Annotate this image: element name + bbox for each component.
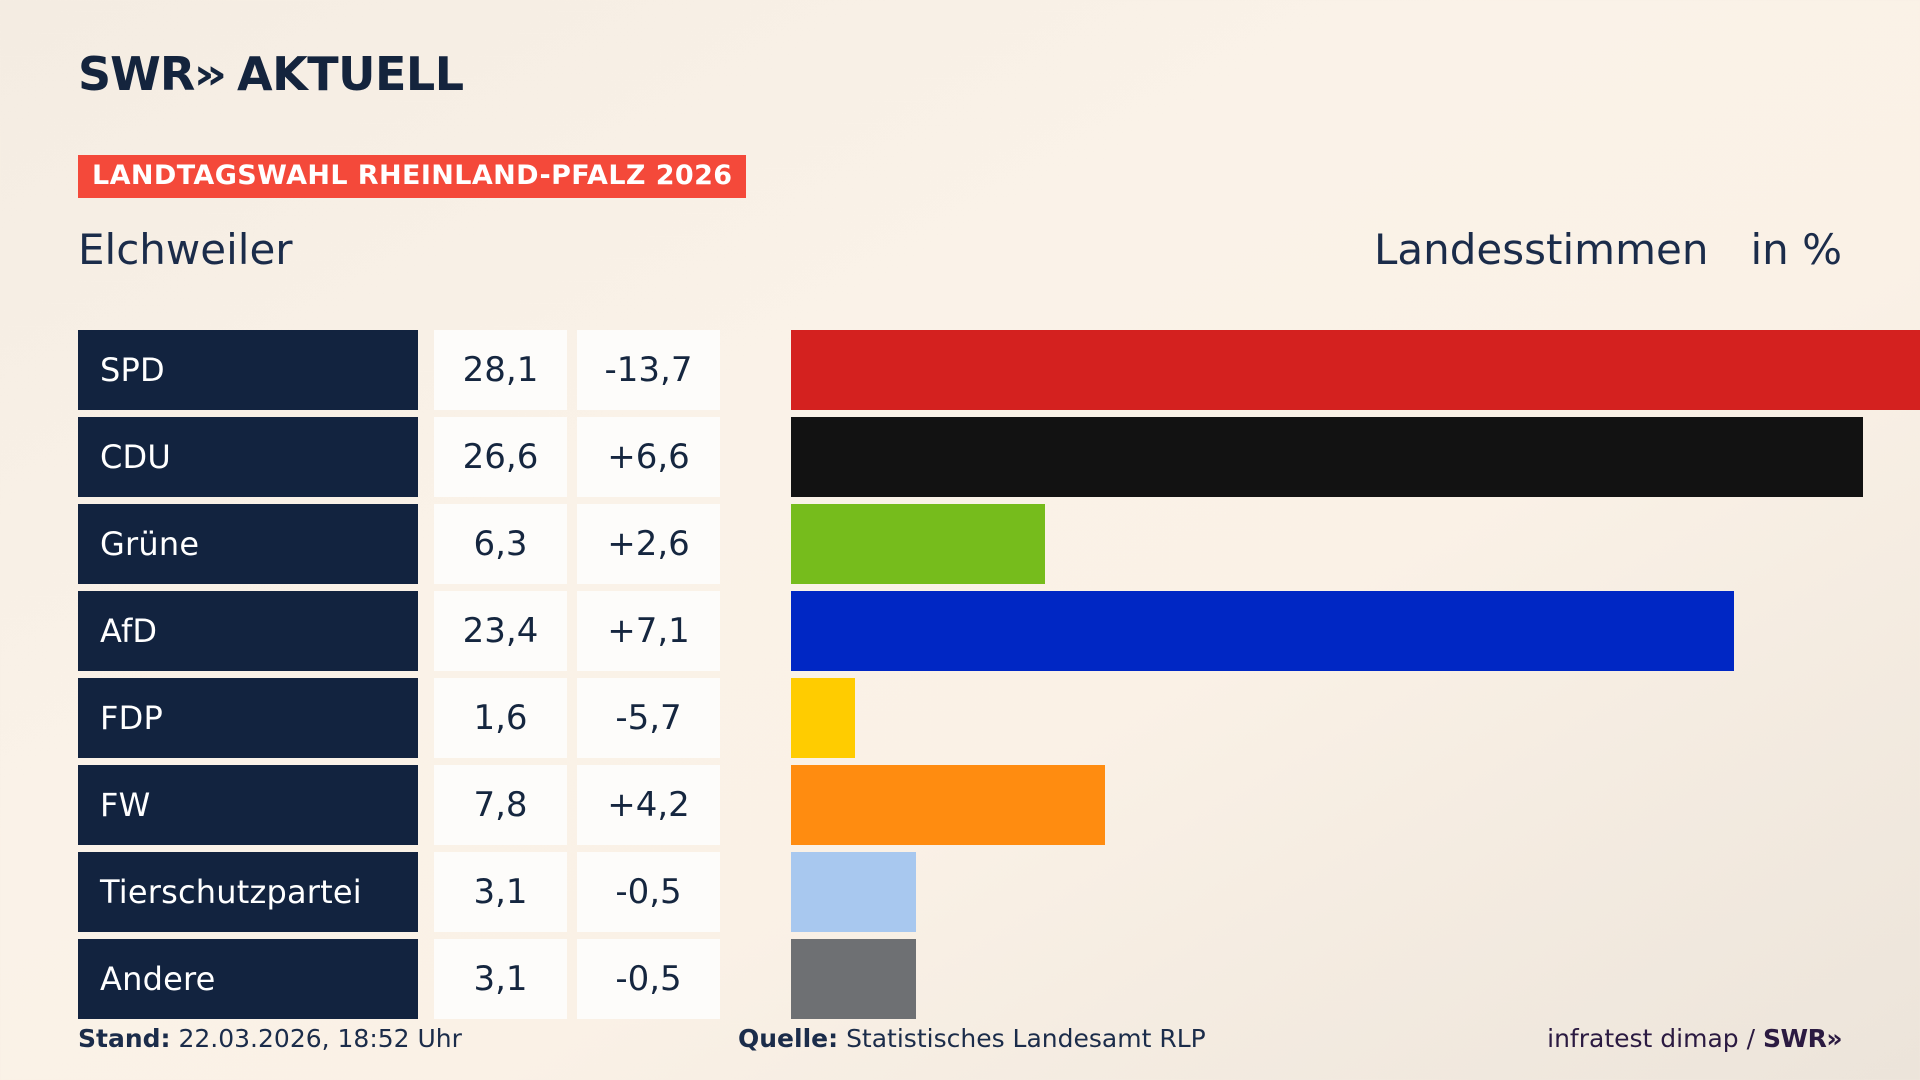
party-label: FDP xyxy=(78,678,418,758)
footer: Stand: 22.03.2026, 18:52 Uhr Quelle: Sta… xyxy=(78,1024,1842,1058)
location-name: Elchweiler xyxy=(78,222,293,279)
party-bar xyxy=(791,939,916,1019)
table-row: Andere 3,1 -0,5 xyxy=(78,939,1920,1019)
quelle-label: Quelle: xyxy=(738,1024,838,1053)
party-share-value: 7,8 xyxy=(434,765,567,845)
party-change-value: +4,2 xyxy=(577,765,720,845)
party-share-value: 26,6 xyxy=(434,417,567,497)
party-label: Tierschutzpartei xyxy=(78,852,418,932)
swr-wordmark: SWR xyxy=(78,51,194,97)
party-label: AfD xyxy=(78,591,418,671)
party-label: SPD xyxy=(78,330,418,410)
table-row: FDP 1,6 -5,7 xyxy=(78,678,1920,758)
credit-info: infratest dimap / SWR» xyxy=(1547,1024,1842,1053)
vote-type-label: Landesstimmen xyxy=(1374,222,1708,279)
table-row: CDU 26,6 +6,6 xyxy=(78,417,1920,497)
bar-track xyxy=(791,504,1920,584)
stand-label: Stand: xyxy=(78,1024,171,1053)
quelle-value: Statistisches Landesamt RLP xyxy=(846,1024,1206,1053)
results-chart: SPD 28,1 -13,7 CDU 26,6 +6,6 Grüne 6,3 +… xyxy=(78,330,1920,1026)
party-bar xyxy=(791,504,1045,584)
party-label: CDU xyxy=(78,417,418,497)
bar-track xyxy=(791,765,1920,845)
chevron-double-right-icon: » xyxy=(194,53,221,95)
bar-track xyxy=(791,591,1920,671)
party-label: Andere xyxy=(78,939,418,1019)
stand-info: Stand: 22.03.2026, 18:52 Uhr xyxy=(78,1024,462,1053)
bar-track xyxy=(791,330,1920,410)
party-share-value: 1,6 xyxy=(434,678,567,758)
party-change-value: -0,5 xyxy=(577,939,720,1019)
party-share-value: 3,1 xyxy=(434,852,567,932)
party-bar xyxy=(791,765,1105,845)
stand-value: 22.03.2026, 18:52 Uhr xyxy=(178,1024,461,1053)
subheader: Elchweiler Landesstimmen in % xyxy=(78,222,1842,284)
election-banner: LANDTAGSWAHL RHEINLAND-PFALZ 2026 xyxy=(78,155,746,198)
credit-separator: / xyxy=(1747,1024,1755,1053)
table-row: Tierschutzpartei 3,1 -0,5 xyxy=(78,852,1920,932)
party-bar xyxy=(791,591,1734,671)
aktuell-wordmark: AKTUELL xyxy=(237,51,464,97)
party-bar xyxy=(791,330,1920,410)
credit-swr-wordmark: SWR xyxy=(1763,1024,1826,1053)
party-label: FW xyxy=(78,765,418,845)
chevron-double-right-icon: » xyxy=(1826,1024,1842,1053)
party-bar xyxy=(791,678,855,758)
swr-aktuell-logo: SWR » AKTUELL xyxy=(78,46,464,102)
bar-track xyxy=(791,417,1920,497)
party-label: Grüne xyxy=(78,504,418,584)
table-row: Grüne 6,3 +2,6 xyxy=(78,504,1920,584)
party-change-value: +7,1 xyxy=(577,591,720,671)
party-change-value: +6,6 xyxy=(577,417,720,497)
table-row: FW 7,8 +4,2 xyxy=(78,765,1920,845)
unit-label: in % xyxy=(1750,222,1842,279)
party-bar xyxy=(791,417,1863,497)
table-row: SPD 28,1 -13,7 xyxy=(78,330,1920,410)
bar-track xyxy=(791,852,1920,932)
header: SWR » AKTUELL xyxy=(78,46,464,102)
bar-track xyxy=(791,678,1920,758)
party-change-value: -0,5 xyxy=(577,852,720,932)
vote-type-group: Landesstimmen in % xyxy=(1374,222,1842,279)
party-bar xyxy=(791,852,916,932)
credit-agency: infratest dimap xyxy=(1547,1024,1739,1053)
party-share-value: 28,1 xyxy=(434,330,567,410)
party-change-value: -13,7 xyxy=(577,330,720,410)
party-share-value: 23,4 xyxy=(434,591,567,671)
table-row: AfD 23,4 +7,1 xyxy=(78,591,1920,671)
source-info: Quelle: Statistisches Landesamt RLP xyxy=(738,1024,1206,1053)
bar-track xyxy=(791,939,1920,1019)
party-change-value: +2,6 xyxy=(577,504,720,584)
party-share-value: 3,1 xyxy=(434,939,567,1019)
party-change-value: -5,7 xyxy=(577,678,720,758)
party-share-value: 6,3 xyxy=(434,504,567,584)
